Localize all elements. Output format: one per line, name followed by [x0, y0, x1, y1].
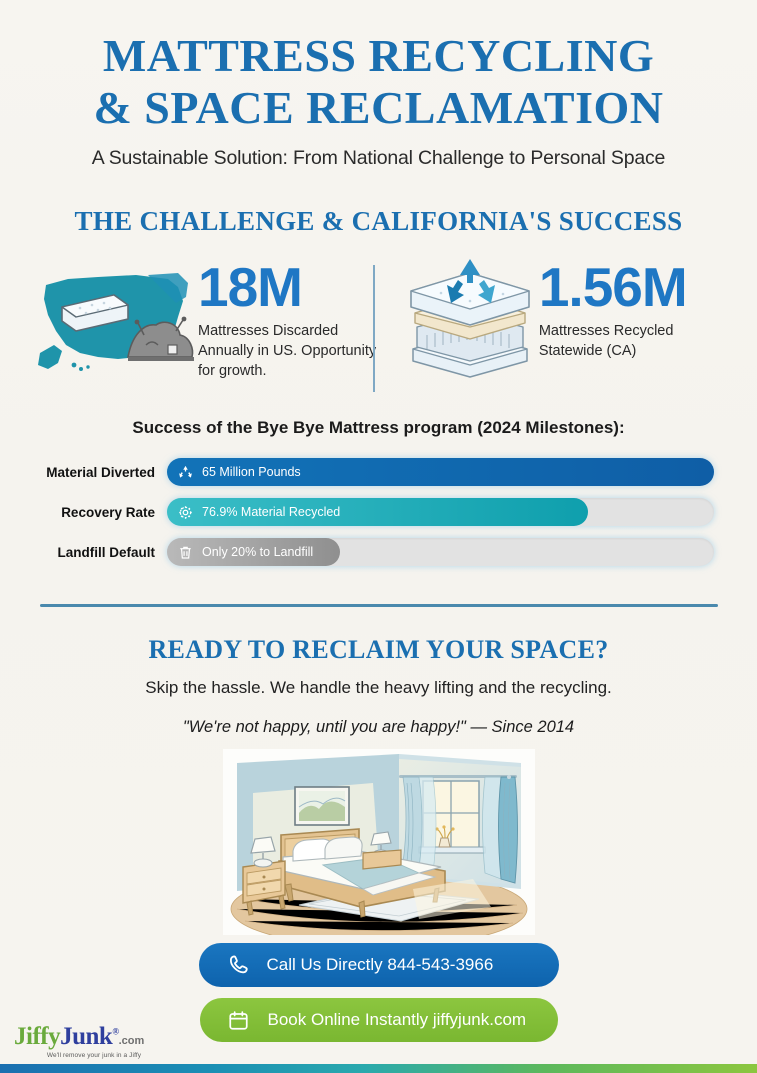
- challenge-heading: THE CHALLENGE & CALIFORNIA'S SUCCESS: [0, 206, 757, 237]
- logo-part-nk: nk: [86, 1023, 113, 1050]
- program-title: Success of the Bye Bye Mattress program …: [0, 418, 757, 438]
- bar-fill-recovery-rate: 76.9% Material Recycled: [167, 498, 588, 526]
- stats-row: 18M Mattresses Discarded Annually in US.…: [0, 257, 757, 390]
- infographic-page: MATTRESS RECYCLING & SPACE RECLAMATION A…: [0, 0, 757, 1073]
- bar-track-recovery-rate[interactable]: 76.9% Material Recycled: [167, 498, 714, 526]
- page-title-line2: & SPACE RECLAMATION: [0, 82, 757, 134]
- bar-row: Material Diverted 65 Million Pounds: [0, 452, 714, 492]
- page-title-line1: MATTRESS RECYCLING: [103, 30, 654, 81]
- trash-icon: [176, 543, 195, 562]
- stat-discarded-description: Mattresses Discarded Annually in US. Opp…: [198, 321, 385, 381]
- call-us-button[interactable]: Call Us Directly 844-543-3966: [199, 943, 559, 987]
- page-title: MATTRESS RECYCLING & SPACE RECLAMATION: [0, 30, 757, 133]
- program-bars: Material Diverted 65 Million Pounds Reco…: [0, 452, 757, 572]
- gear-icon: [176, 503, 195, 522]
- cta-subtitle: Skip the hassle. We handle the heavy lif…: [0, 678, 757, 698]
- stat-discarded-value: 18M: [198, 261, 385, 315]
- logo-domain: .com: [119, 1035, 145, 1047]
- call-us-button-label: Call Us Directly 844-543-3966: [267, 955, 494, 975]
- recycle-icon: [176, 463, 195, 482]
- logo-tagline: We'll remove your junk in a Jiffy: [14, 1052, 174, 1059]
- bar-value-material-diverted: 65 Million Pounds: [202, 465, 301, 479]
- bar-row: Recovery Rate 76.9% Material Recycled: [0, 492, 714, 532]
- bar-value-landfill-default: Only 20% to Landfill: [202, 545, 313, 559]
- stat-discarded: 18M Mattresses Discarded Annually in US.…: [18, 257, 385, 390]
- logo-part-j: J: [60, 1023, 72, 1050]
- bar-label-material-diverted: Material Diverted: [0, 465, 167, 480]
- jiffy-junk-logo[interactable]: JiffyJunk®.com We'll remove your junk in…: [14, 1024, 174, 1059]
- bar-label-landfill-default: Landfill Default: [0, 545, 167, 560]
- stat-recycled-text: 1.56M Mattresses Recycled Statewide (CA): [539, 257, 739, 361]
- bar-label-recovery-rate: Recovery Rate: [0, 505, 167, 520]
- hero-section: MATTRESS RECYCLING & SPACE RECLAMATION A…: [0, 0, 757, 170]
- stats-vertical-divider: [373, 265, 375, 392]
- bedroom-illustration: [223, 749, 535, 935]
- stat-recycled: 1.56M Mattresses Recycled Statewide (CA): [385, 257, 739, 388]
- page-subtitle: A Sustainable Solution: From National Ch…: [0, 147, 757, 170]
- section-divider: [40, 604, 718, 607]
- footer-gradient-bar: [0, 1064, 757, 1073]
- bar-value-recovery-rate: 76.9% Material Recycled: [202, 505, 340, 519]
- stat-recycled-value: 1.56M: [539, 261, 739, 315]
- calendar-icon: [226, 1007, 252, 1033]
- stat-discarded-text: 18M Mattresses Discarded Annually in US.…: [198, 257, 385, 381]
- logo-part-jiffy: Jiffy: [14, 1023, 60, 1050]
- cta-quote: "We're not happy, until you are happy!" …: [0, 718, 757, 737]
- us-map-mattress-landfill-icon: [28, 257, 198, 390]
- book-online-button[interactable]: Book Online Instantly jiffyjunk.com: [200, 998, 558, 1042]
- logo-part-u: u: [72, 1023, 85, 1050]
- book-online-button-label: Book Online Instantly jiffyjunk.com: [268, 1010, 527, 1030]
- bar-fill-landfill-default: Only 20% to Landfill: [167, 538, 340, 566]
- recycled-mattress-layers-icon: [401, 257, 539, 388]
- stat-recycled-description: Mattresses Recycled Statewide (CA): [539, 321, 739, 361]
- logo-wordmark: JiffyJunk®.com: [14, 1024, 174, 1049]
- cta-heading: READY TO RECLAIM YOUR SPACE?: [0, 635, 757, 665]
- bar-track-landfill-default[interactable]: Only 20% to Landfill: [167, 538, 714, 566]
- bar-track-material-diverted[interactable]: 65 Million Pounds: [167, 458, 714, 486]
- bar-fill-material-diverted: 65 Million Pounds: [167, 458, 714, 486]
- bedroom-illustration-wrap: [0, 749, 757, 935]
- bar-row: Landfill Default Only 20% to Landfill: [0, 532, 714, 572]
- phone-icon: [225, 952, 251, 978]
